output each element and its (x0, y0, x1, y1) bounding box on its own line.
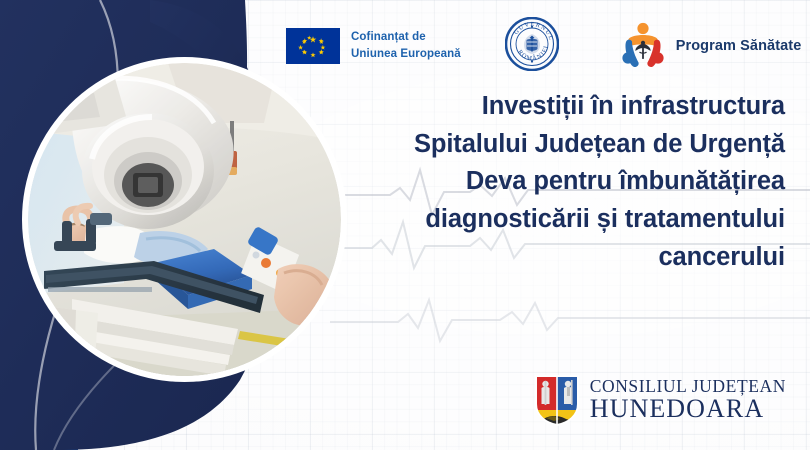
headline-line-2: Spitalului Județean de Urgență (315, 126, 785, 164)
eu-cofinancing-logo: Cofinanțat de Uniunea Europeană (286, 28, 461, 64)
program-sanatate-icon (617, 20, 669, 72)
eu-label-line-2: Uniunea Europeană (351, 46, 461, 63)
guvernul-romaniei-seal: GUVERNUL ROMÂNIEI (505, 17, 559, 76)
campaign-banner: Cofinanțat de Uniunea Europeană GUVERNUL… (0, 0, 810, 450)
headline-line-5: cancerului (315, 239, 785, 277)
headline-line-3: Deva pentru îmbunătățirea (315, 163, 785, 201)
eu-stars-circle (286, 28, 340, 64)
county-council-wordmark: CONSILIUL JUDEȚEAN HUNEDOARA (590, 378, 786, 423)
county-council-line-2: HUNEDOARA (590, 396, 786, 422)
county-council-line-1: CONSILIUL JUDEȚEAN (590, 378, 786, 396)
radiotherapy-photo (22, 57, 347, 382)
headline-line-1: Investiții în infrastructura (315, 88, 785, 126)
european-union-flag (286, 28, 340, 64)
headline-line-4: diagnosticării și tratamentului (315, 201, 785, 239)
funding-logos-row: Cofinanțat de Uniunea Europeană GUVERNUL… (286, 18, 796, 74)
program-sanatate-logo: Program Sănătate (617, 20, 802, 72)
hunedoara-county-coat-of-arms (534, 374, 580, 426)
guvernul-romaniei-seal-graphic: GUVERNUL ROMÂNIEI (505, 17, 559, 71)
eu-cofinancing-label: Cofinanțat de Uniunea Europeană (351, 29, 461, 62)
hunedoara-county-council-logo: CONSILIUL JUDEȚEAN HUNEDOARA (534, 374, 786, 426)
radiotherapy-photo-illustration (28, 63, 341, 376)
program-sanatate-label: Program Sănătate (676, 38, 802, 54)
eu-label-line-1: Cofinanțat de (351, 29, 461, 46)
page-title: Investiții în infrastructura Spitalului … (315, 88, 785, 277)
